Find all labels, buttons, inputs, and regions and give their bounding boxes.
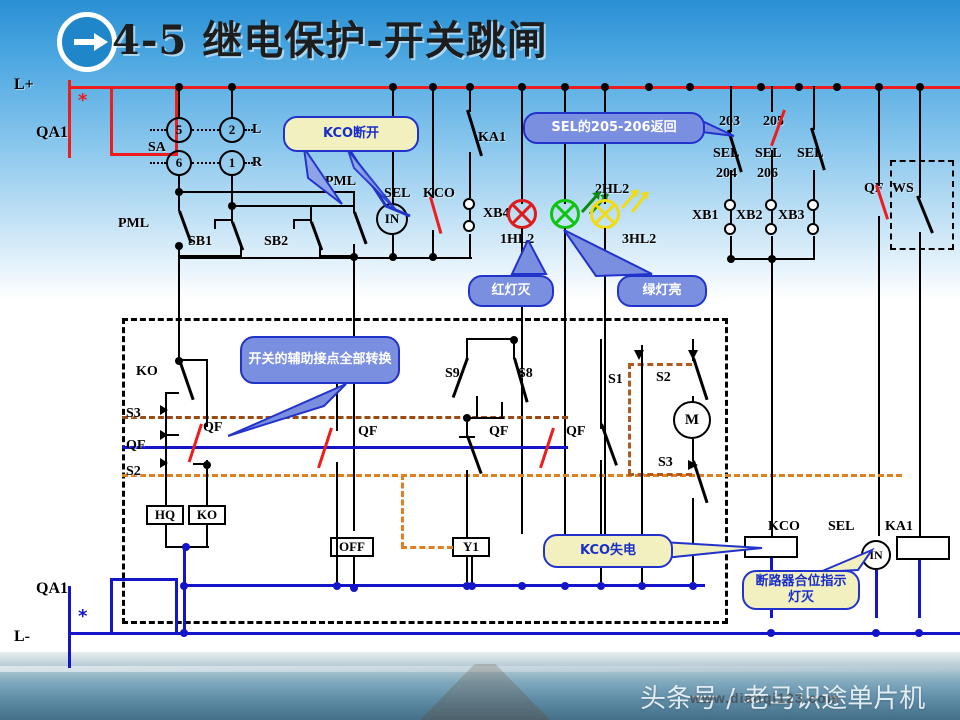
arrow-right-circle-icon <box>57 12 117 72</box>
qa1-top-inlet <box>68 86 112 89</box>
qa1-bot-label: QA1 <box>36 580 68 598</box>
node <box>872 629 880 637</box>
ka1-coil-bot <box>918 560 921 618</box>
y1-dash-down <box>401 474 404 548</box>
sa-dotted-1 <box>245 129 253 131</box>
coil-ka1-label: KA1 <box>885 519 913 535</box>
qa1-top-star: * <box>78 92 87 110</box>
qf-c-bot <box>466 470 468 582</box>
kco-open-leader <box>290 148 450 220</box>
qa1-bot-star: * <box>78 608 87 626</box>
lamp-3hl2-yellow <box>590 199 620 229</box>
qf-d-label: QF <box>566 424 585 440</box>
node <box>333 582 341 590</box>
lamp-1hl2-red <box>507 199 537 229</box>
rail-dot <box>645 83 653 91</box>
ws-top <box>919 86 921 198</box>
ko-aux-chain-top <box>165 392 179 394</box>
qf-a-node-bar <box>193 463 207 465</box>
sa-dotted-6-2 <box>192 162 219 164</box>
qf-right-bot <box>878 216 880 536</box>
sb2-actuator-stem <box>293 219 295 229</box>
sa-dotted-6 <box>150 162 166 164</box>
qa1-top-drop <box>110 86 113 156</box>
rail-dot <box>757 83 765 91</box>
hq-bot <box>165 525 167 547</box>
sel-b-label: SEL <box>755 146 781 162</box>
state-line-s2 <box>122 474 902 477</box>
node <box>689 582 697 590</box>
coil-ka1 <box>896 536 950 560</box>
term-204-label: 204 <box>716 166 737 182</box>
callout-kco-deenergized: KCO失电 <box>543 534 673 568</box>
motor-bot <box>692 439 694 461</box>
in-coil-bot <box>875 570 878 618</box>
sb1-actuator-bar <box>214 219 232 221</box>
qf-b-label: QF <box>358 424 377 440</box>
xb4-terminal <box>463 198 477 234</box>
s9-s8-bot-bar <box>466 417 504 419</box>
node <box>915 629 923 637</box>
qa1-top-left-stem <box>68 80 71 158</box>
s-loop-bottom <box>628 473 692 476</box>
node <box>727 255 735 263</box>
sa-label: SA <box>148 140 166 156</box>
s1-label: S1 <box>608 372 623 388</box>
qa1-bot-stem <box>68 586 71 668</box>
ko-aux-to-hq <box>165 468 167 506</box>
qf-a-tap <box>178 359 208 361</box>
coil-hq: HQ <box>146 505 184 525</box>
node <box>767 629 775 637</box>
sa-dotted-5 <box>150 129 166 131</box>
y1-bot <box>471 557 473 585</box>
schematic-canvas: 4-5 继电保护-开关跳闸 L+ QA1 * 5 2 6 1 SA L R PM… <box>0 0 960 720</box>
qa1-bot-inlet <box>68 632 112 635</box>
coil-sel-label: SEL <box>828 519 854 535</box>
sa-5-stem <box>178 86 180 118</box>
callout-breaker-lamp-off: 断路器合位指示灯灭 <box>742 570 860 610</box>
xb2-terminal <box>765 199 779 235</box>
sel1-bot <box>730 170 732 200</box>
ka1-label: KA1 <box>478 130 506 146</box>
sa-contact-6: 6 <box>166 150 192 176</box>
qf-right-top <box>878 86 880 186</box>
xb3-label: XB3 <box>778 208 804 224</box>
node <box>518 582 526 590</box>
motor-symbol: M <box>673 401 711 439</box>
sel3-bot <box>813 170 815 200</box>
callout-sel-return: SEL的205-206返回 <box>523 112 705 144</box>
sb1-label: SB1 <box>188 234 212 250</box>
qf-b-bot <box>336 462 338 582</box>
sel2-bot <box>771 150 773 200</box>
sa-side-r-label: R <box>252 155 262 171</box>
s1-top <box>600 339 602 429</box>
node <box>561 582 569 590</box>
node <box>638 582 646 590</box>
s2-label: S2 <box>656 370 671 386</box>
node <box>175 242 183 250</box>
xb4-label: XB4 <box>483 206 509 222</box>
callout-aux-contacts-switched: 开关的辅助接点全部转换 <box>240 336 400 384</box>
sb1-actuator-stem <box>214 219 216 229</box>
state-line-qf <box>122 446 568 449</box>
s3-contact-arrow <box>160 405 168 415</box>
callout-red-lamp-off: 红灯灭 <box>468 275 554 307</box>
rail-negative <box>110 632 960 635</box>
callout-green-lamp-on: 绿灯亮 <box>617 275 707 307</box>
off-bot <box>353 557 355 587</box>
sa-contact-1: 2 <box>219 117 245 143</box>
rail-positive-label: L+ <box>14 76 34 94</box>
xb3-terminal <box>807 199 821 235</box>
node <box>463 582 471 590</box>
xb4-return <box>432 257 472 259</box>
qf-a-top <box>206 359 208 427</box>
xb3-bot <box>813 236 815 260</box>
ka1-bot <box>469 152 471 198</box>
ka1-top <box>469 86 471 112</box>
term-206-label: 206 <box>757 166 778 182</box>
qa1-bot-cross <box>110 578 178 581</box>
qa1-top-label: QA1 <box>36 124 68 142</box>
s3-low-label: S3 <box>658 455 673 471</box>
xb1-label: XB1 <box>692 208 718 224</box>
s9-s8-top-bar <box>466 338 514 340</box>
inner-bus-to-negative <box>183 584 186 634</box>
ws-bot <box>919 232 921 536</box>
sa-contact-2: 1 <box>219 150 245 176</box>
aux-switched-leader <box>228 384 358 440</box>
coil-y1: Y1 <box>452 537 490 557</box>
callout-kco-open: KCO断开 <box>283 116 419 152</box>
s-loop-top <box>628 363 692 366</box>
lamp-2hl2-green <box>550 199 580 229</box>
sa-contact-5: 5 <box>166 117 192 143</box>
inner-return-bus <box>183 584 705 587</box>
sel-return-leader <box>700 118 740 144</box>
rail-dot <box>795 83 803 91</box>
row-s3-label: S3 <box>126 406 141 422</box>
qa1-bot-drop <box>175 578 178 634</box>
sa-dotted-2 <box>245 162 253 164</box>
lamp1-stem-top <box>521 86 523 204</box>
rail-dot <box>833 83 841 91</box>
rail-negative-label: L- <box>14 628 30 646</box>
qa1-bot-rise <box>110 578 113 634</box>
sa-dotted-5-1 <box>192 129 219 131</box>
kco-deenergized-leader <box>662 538 772 564</box>
pml-left-label: PML <box>118 216 149 232</box>
row-s2-label: S2 <box>126 464 141 480</box>
watermark-sub: www.dianqi123.com <box>690 690 840 706</box>
sa-1-stem <box>231 86 233 118</box>
lamp2-stem-top <box>564 86 566 204</box>
s-loop-left <box>628 363 631 475</box>
ko-bot <box>206 525 208 547</box>
pml-left-top <box>178 191 180 211</box>
kco-coil-stem-top <box>771 258 773 536</box>
sel2-top <box>771 86 773 112</box>
sel3-top <box>813 86 815 130</box>
s8-bot <box>501 402 503 418</box>
green-on-leader <box>556 230 666 280</box>
row-qf-label: QF <box>126 438 145 454</box>
sa-side-l-label: L <box>252 122 261 138</box>
qf-c-label: QF <box>489 424 508 440</box>
s2-contact-arrow <box>160 458 168 468</box>
node <box>597 582 605 590</box>
red-off-leader <box>500 240 560 278</box>
lamp3-stem-top <box>604 86 606 204</box>
s9s8-down <box>466 417 468 437</box>
coil-ko: KO <box>188 505 226 525</box>
page-title: 4-5 继电保护-开关跳闸 <box>112 8 548 66</box>
s9-bot <box>476 396 478 418</box>
rail-dot <box>686 83 694 91</box>
lower-control-bus <box>178 257 436 259</box>
arrow-right-glyph <box>74 33 108 51</box>
sb2-label: SB2 <box>264 234 288 250</box>
yellow-lamp-arrows-icon <box>620 182 654 214</box>
xb2-label: XB2 <box>736 208 762 224</box>
xb4-bot <box>469 234 471 258</box>
ko-aux-label: KO <box>136 364 158 380</box>
y1-dash-across <box>401 546 453 549</box>
